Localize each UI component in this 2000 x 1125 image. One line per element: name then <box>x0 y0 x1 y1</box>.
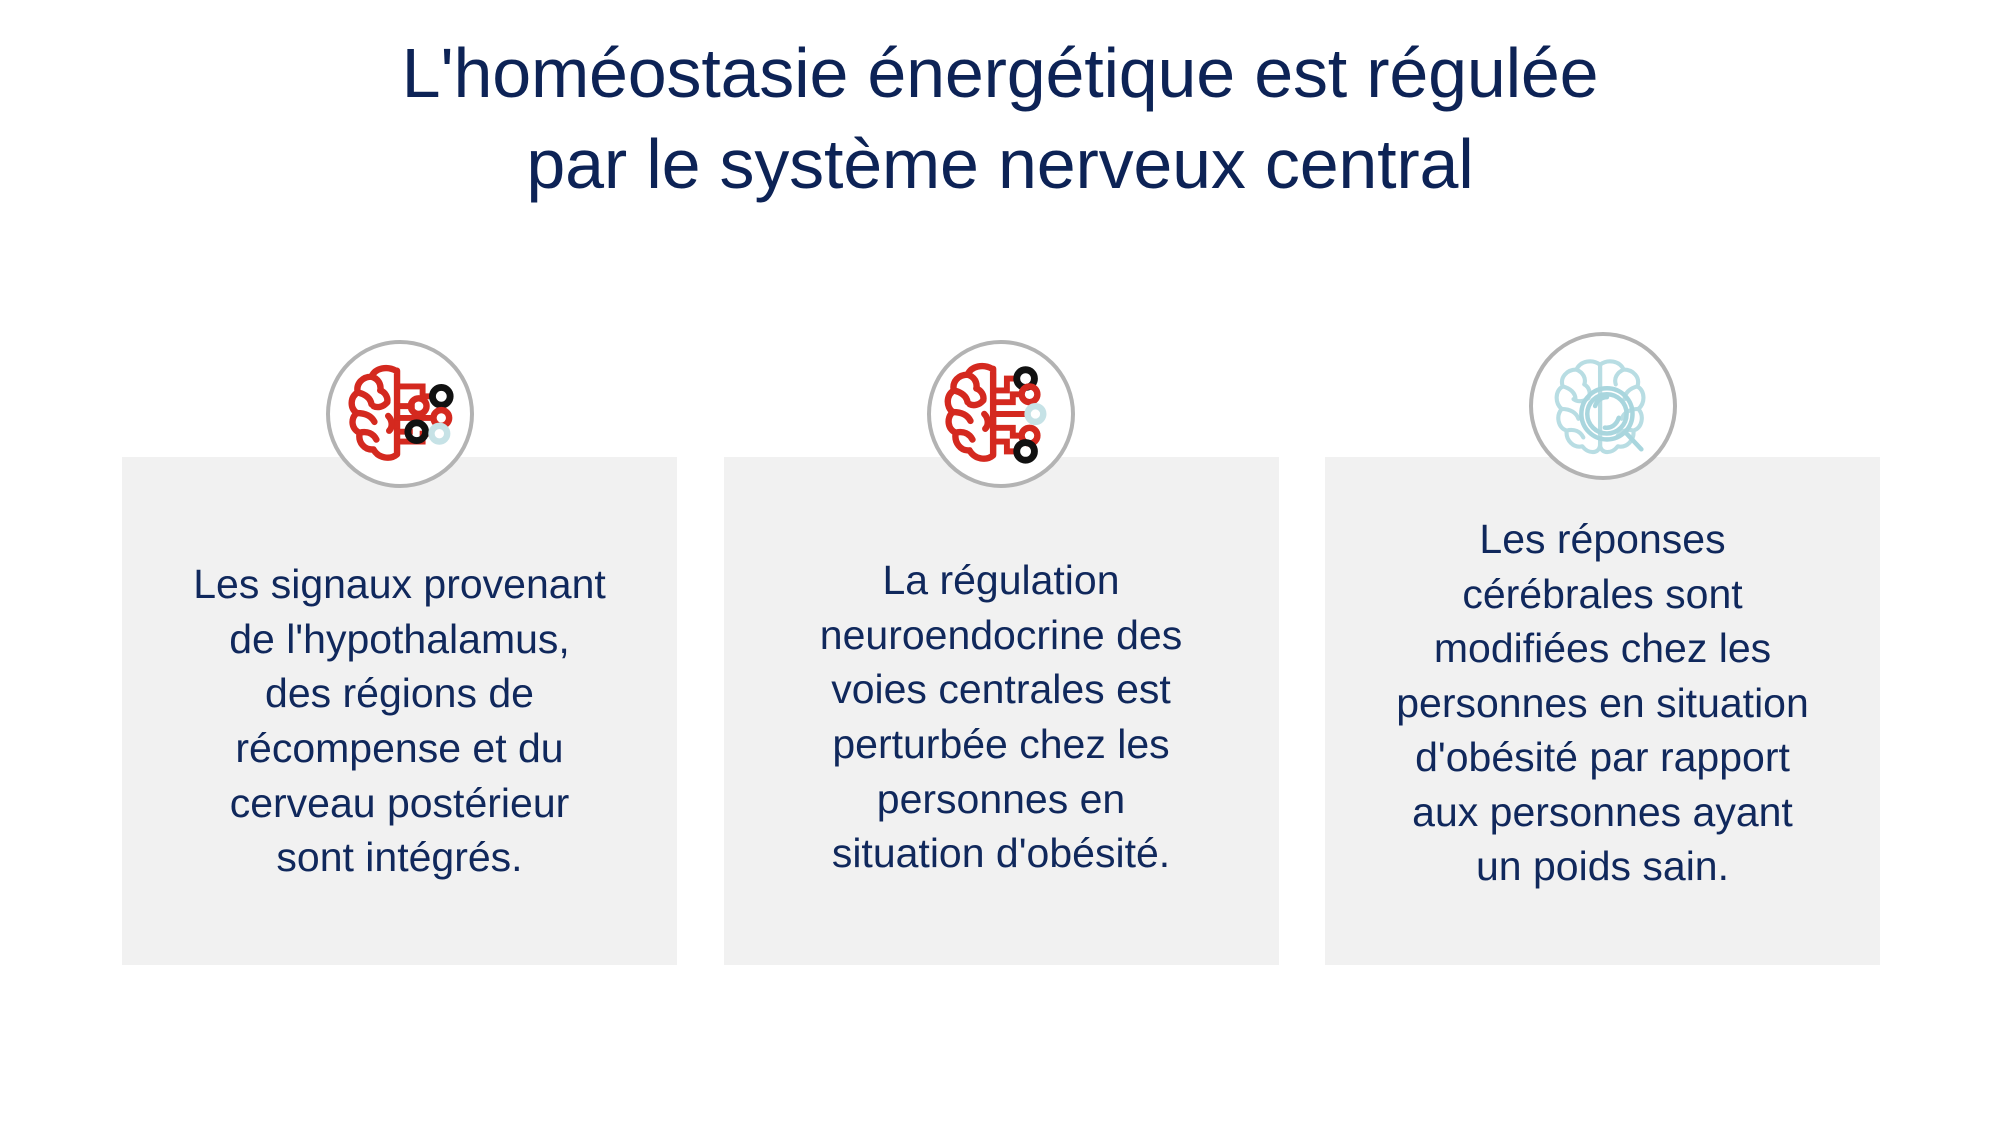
info-card-2[interactable]: La régulation neuroendocrine des voies c… <box>724 457 1279 965</box>
brain-circuit-network-icon <box>927 340 1075 488</box>
info-card-3-text: Les réponses cérébrales sont modifiées c… <box>1362 512 1844 894</box>
slide-canvas: L'homéostasie énergétique est régulée pa… <box>0 0 2000 1125</box>
brain-magnifier-icon <box>1529 332 1677 480</box>
info-card-3[interactable]: Les réponses cérébrales sont modifiées c… <box>1325 457 1880 965</box>
info-card-2-text: La régulation neuroendocrine des voies c… <box>760 553 1242 880</box>
cards-row: Les signaux provenant de l'hypothalamus,… <box>122 457 1880 965</box>
brain-circuit-red-icon <box>326 340 474 488</box>
page-title: L'homéostasie énergétique est régulée pa… <box>0 28 2000 210</box>
info-card-1[interactable]: Les signaux provenant de l'hypothalamus,… <box>122 457 677 965</box>
info-card-1-text: Les signaux provenant de l'hypothalamus,… <box>159 557 641 884</box>
